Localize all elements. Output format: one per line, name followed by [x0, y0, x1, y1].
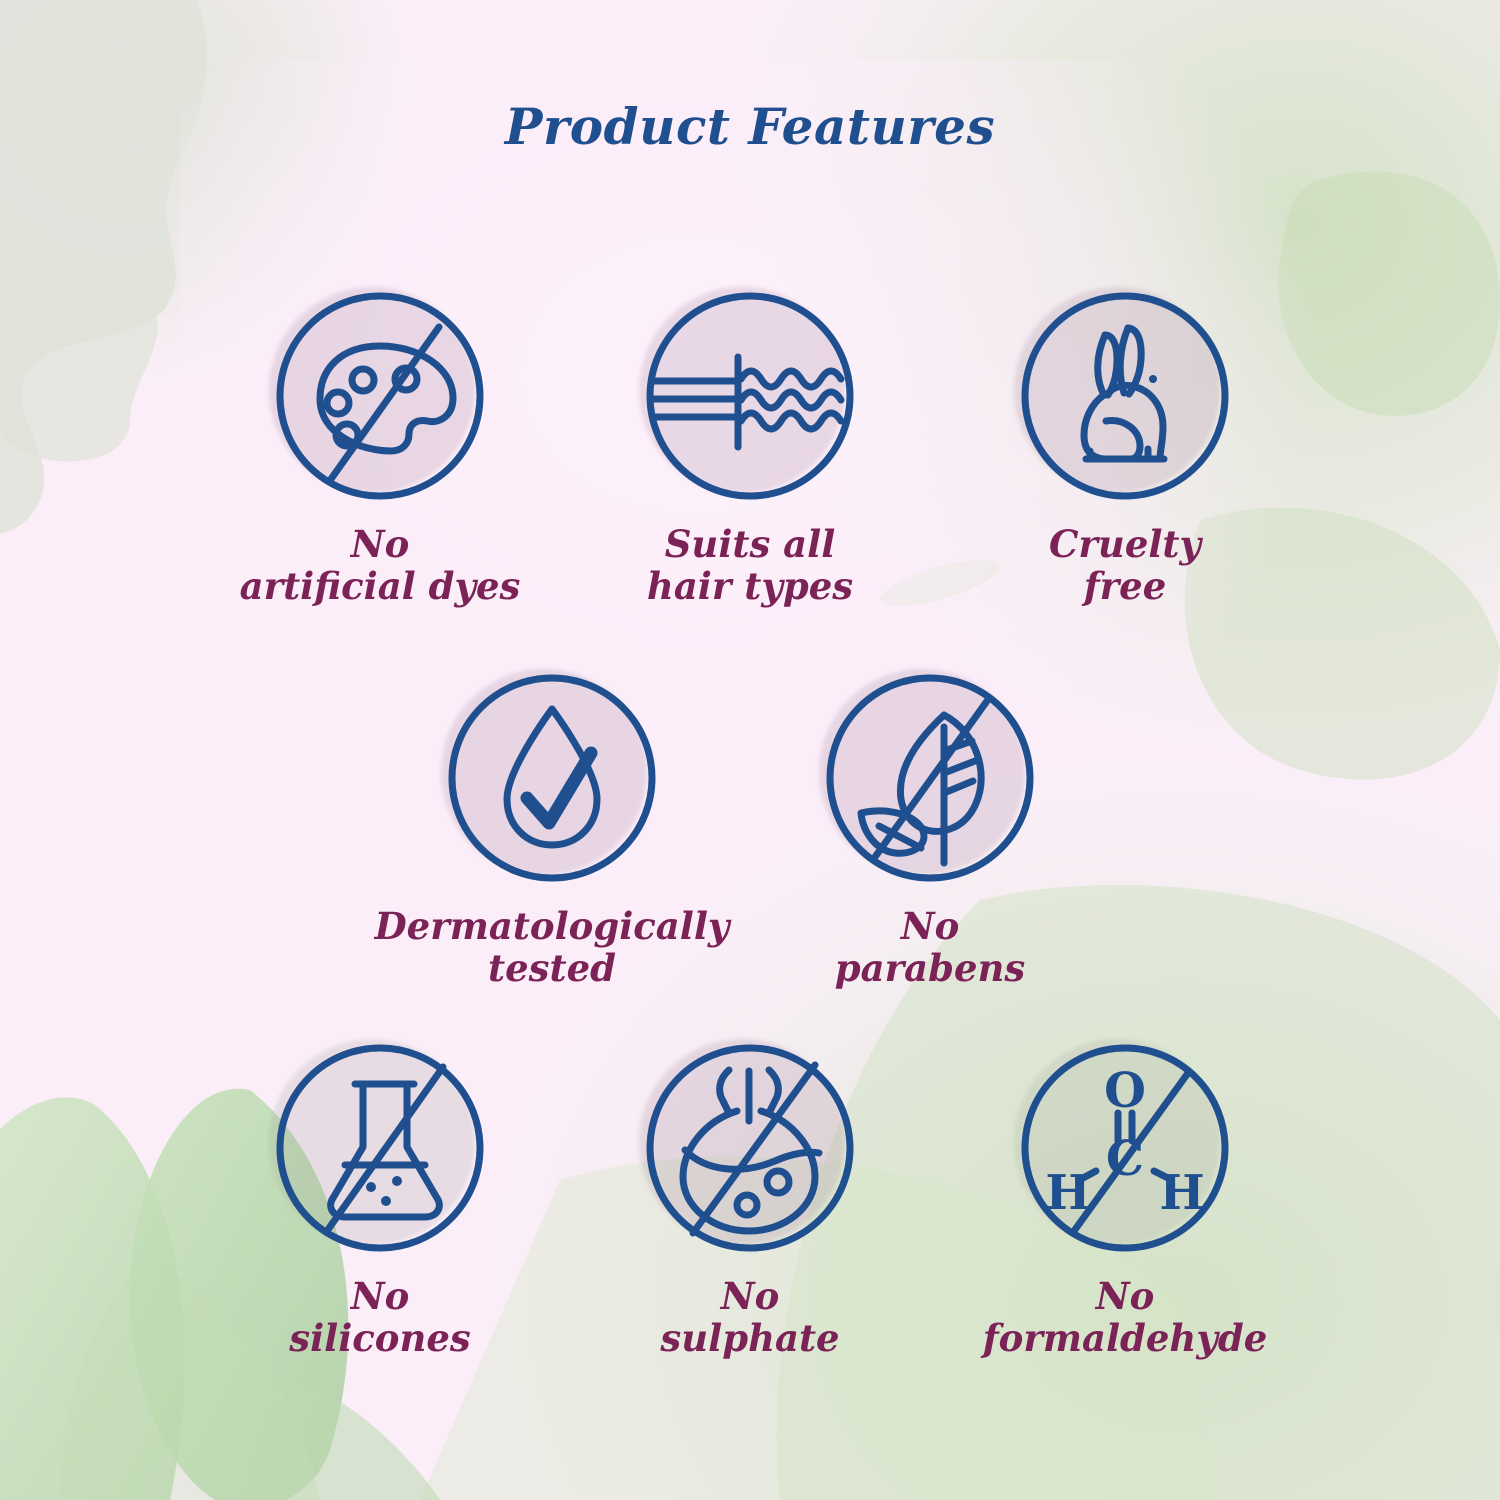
- badge-no-sulphate: [637, 1035, 863, 1261]
- features-page: Product Features No artificial dyes: [0, 0, 1500, 1500]
- feature-label: Dermatologically tested: [342, 905, 762, 989]
- badge-no-parabens: [817, 665, 1043, 891]
- feature-label: No formaldehyde: [975, 1275, 1275, 1359]
- water-drop-check-icon: [439, 665, 665, 891]
- feature-suits-all-hair-types[interactable]: Suits all hair types: [600, 283, 900, 607]
- feature-no-silicones[interactable]: No silicones: [230, 1035, 530, 1359]
- atom-hydrogen-right: H: [1159, 1165, 1204, 1221]
- feature-label: No parabens: [780, 905, 1080, 989]
- feature-dermatologically-tested[interactable]: Dermatologically tested: [342, 665, 762, 989]
- erlenmeyer-flask-prohibited-icon: [267, 1035, 493, 1261]
- feature-label: Suits all hair types: [600, 523, 900, 607]
- atom-carbon: C: [1106, 1131, 1144, 1187]
- feature-no-parabens[interactable]: No parabens: [780, 665, 1080, 989]
- feature-label: No silicones: [230, 1275, 530, 1359]
- feature-label: Cruelty free: [975, 523, 1275, 607]
- feature-no-artificial-dyes[interactable]: No artificial dyes: [230, 283, 530, 607]
- badge-dermatologically-tested: [439, 665, 665, 891]
- leaf-prohibited-icon: [817, 665, 1043, 891]
- page-title: Product Features: [0, 97, 1500, 156]
- feature-no-formaldehyde[interactable]: O C H H No formaldehyde: [975, 1035, 1275, 1359]
- feature-cruelty-free[interactable]: Cruelty free: [975, 283, 1275, 607]
- feature-no-sulphate[interactable]: No sulphate: [600, 1035, 900, 1359]
- formaldehyde-molecule-prohibited-icon: O C H H: [1012, 1035, 1238, 1261]
- badge-no-artificial-dyes: [267, 283, 493, 509]
- atom-hydrogen-left: H: [1045, 1165, 1090, 1221]
- badge-suits-all-hair-types: [637, 283, 863, 509]
- straight-and-wavy-hair-icon: [637, 283, 863, 509]
- paint-palette-prohibited-icon: [267, 283, 493, 509]
- badge-no-formaldehyde: O C H H: [1012, 1035, 1238, 1261]
- badge-no-silicones: [267, 1035, 493, 1261]
- feature-label: No sulphate: [600, 1275, 900, 1359]
- badge-cruelty-free: [1012, 283, 1238, 509]
- round-flask-prohibited-icon: [637, 1035, 863, 1261]
- rabbit-icon: [1012, 283, 1238, 509]
- atom-oxygen: O: [1104, 1063, 1146, 1119]
- feature-label: No artificial dyes: [230, 523, 530, 607]
